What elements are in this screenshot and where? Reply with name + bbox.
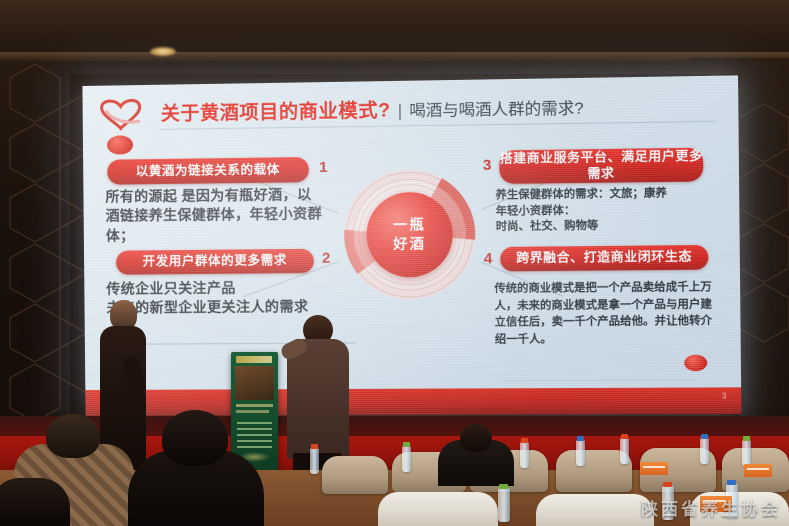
center-donut-diagram: 一瓶 好酒 — [344, 169, 476, 300]
audience-person-mid-head — [460, 424, 492, 452]
number-marker-4: 4 — [484, 250, 493, 267]
photographer-jacket — [287, 339, 349, 459]
podium-graphic — [235, 366, 274, 400]
name-card-1 — [640, 462, 668, 475]
chair-mid-6 — [322, 456, 388, 494]
ceiling-downlight — [150, 47, 176, 56]
pill-item-3: 搭建商业服务平台、满足用户更多需求 — [499, 148, 703, 184]
podium-subheadline — [236, 410, 269, 413]
audience-person-dark-head — [162, 410, 228, 466]
core-line-2: 好酒 — [393, 235, 426, 254]
chair-front-2 — [536, 494, 654, 526]
water-bottle-4 — [620, 438, 629, 464]
water-bottle-2 — [520, 442, 529, 468]
water-bottle-front-1 — [498, 488, 510, 522]
water-bottle-1 — [402, 446, 411, 472]
podium-text-lines — [237, 422, 272, 448]
water-bottle-6 — [742, 440, 751, 466]
led-presentation-screen: 关于黄酒项目的商业模式? | 喝酒与喝酒人群的需求? — [82, 75, 741, 416]
ceiling — [0, 0, 789, 60]
red-dot-decoration-2 — [684, 355, 707, 372]
core-line-1: 一瓶 — [393, 215, 426, 234]
number-marker-2: 2 — [322, 250, 331, 267]
photo-watermark: 陕西省养生协会 — [641, 495, 781, 520]
donut-core-label: 一瓶 好酒 — [366, 192, 453, 278]
number-marker-3: 3 — [483, 157, 492, 174]
conference-hall-photo: 关于黄酒项目的商业模式? | 喝酒与喝酒人群的需求? — [0, 0, 789, 526]
slide-content: 关于黄酒项目的商业模式? | 喝酒与喝酒人群的需求? — [82, 75, 741, 416]
name-card-2 — [744, 464, 772, 477]
number-marker-1: 1 — [319, 159, 328, 176]
audience-person-left-edge — [0, 478, 70, 526]
water-bottle-5 — [700, 438, 709, 464]
chair-front-1 — [378, 492, 498, 526]
pill-item-4: 跨界融合、打造商业闭环生态 — [500, 245, 708, 271]
podium-logo — [236, 356, 272, 363]
pill-item-2: 开发用户群体的更多需求 — [116, 249, 314, 275]
audience-person-plaid-head — [46, 414, 100, 458]
water-bottle-3 — [576, 440, 585, 466]
body-text-item-4: 传统的商业模式是把一个产品卖给成千上万人，未来的商业模式是拿一个产品与用户建立信… — [494, 279, 719, 348]
slide-page-number: 3 — [722, 391, 727, 400]
pill-item-1: 以黄酒为链接关系的载体 — [107, 157, 309, 185]
podium-headline — [236, 404, 273, 407]
body-text-item-1: 所有的源起 是因为有瓶好酒，以酒链接养生保健群体，年轻小资群体； — [105, 185, 322, 246]
water-bottle-7 — [310, 448, 319, 474]
body-text-item-3: 养生保健群体的需求：文旅；康养 年轻小资群体： 时尚、社交、购物等 — [495, 185, 722, 235]
